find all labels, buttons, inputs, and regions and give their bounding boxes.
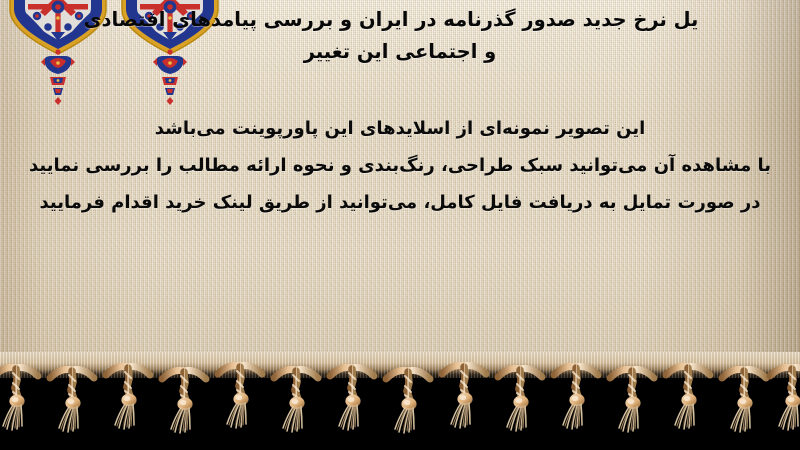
- tassel-row: [0, 360, 800, 450]
- title-line-1: یل نرخ جدید صدور گذرنامه در ایران و بررس…: [14, 4, 768, 36]
- slide-body: این تصویر نمونه‌ای از اسلایدهای این پاور…: [0, 110, 800, 221]
- slide-text-layer: یل نرخ جدید صدور گذرنامه در ایران و بررس…: [0, 0, 800, 372]
- body-line-2: با مشاهده آن می‌توانید سبک طراحی، رنگ‌بن…: [10, 147, 790, 184]
- slide-canvas: یل نرخ جدید صدور گذرنامه در ایران و بررس…: [0, 0, 800, 450]
- body-line-1: این تصویر نمونه‌ای از اسلایدهای این پاور…: [10, 110, 790, 147]
- slide-title: یل نرخ جدید صدور گذرنامه در ایران و بررس…: [0, 4, 800, 68]
- tassel-row-svg: [0, 360, 800, 450]
- carpet-fringe: [0, 352, 800, 450]
- body-line-3: در صورت تمایل به دریافت فایل کامل، می‌تو…: [10, 184, 790, 221]
- title-line-2: و اجتماعی این تغییر: [14, 36, 786, 68]
